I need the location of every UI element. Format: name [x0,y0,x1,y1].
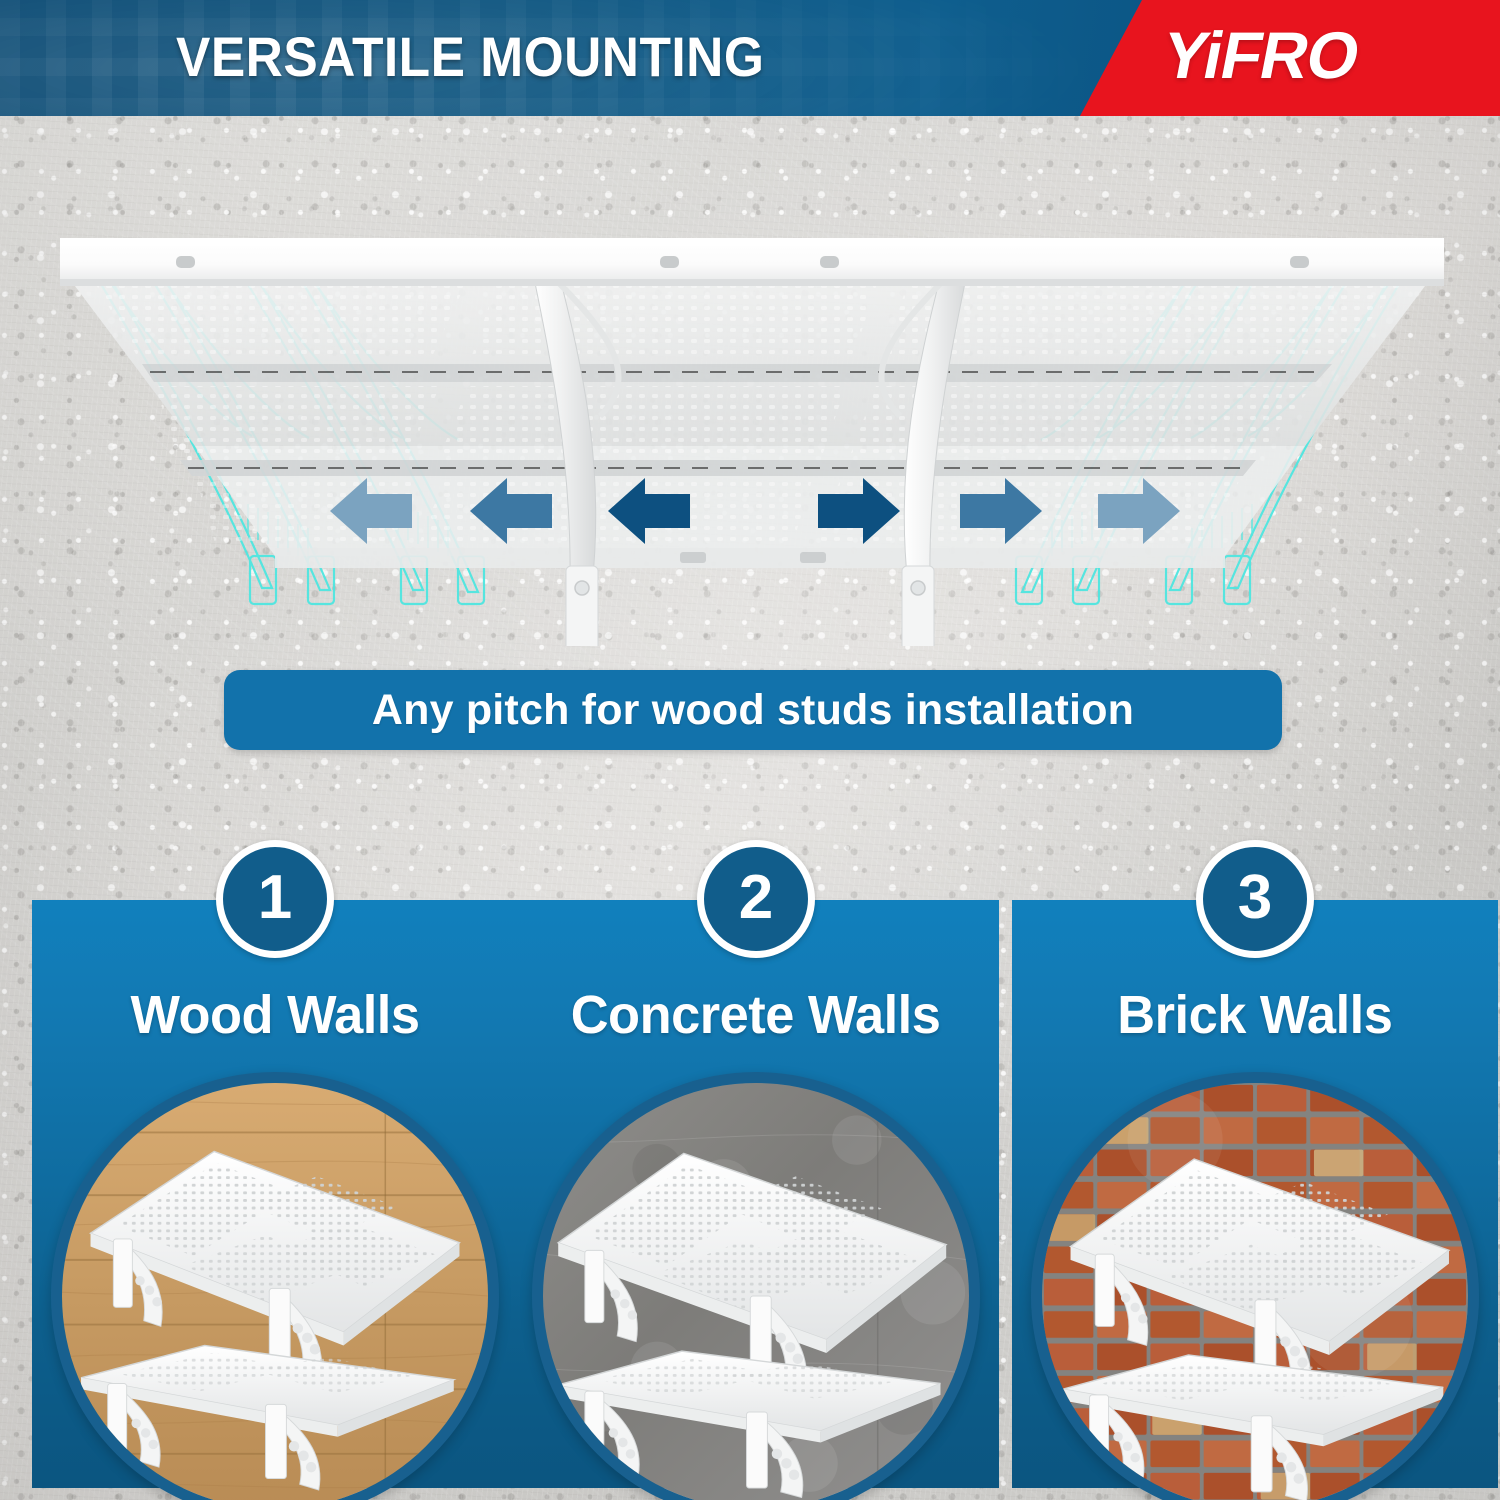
card-photo-ring [1031,1072,1479,1500]
card-title-text: Concrete Walls [571,984,941,1046]
card-number: 1 [258,867,292,929]
header-banner: VERSATILE MOUNTING YiFRO [0,0,1500,116]
hero-shelf-illustration [0,116,1500,646]
card-title: Wood Walls [32,984,518,1046]
card-title: Concrete Walls [513,984,999,1046]
page-title-text: VERSATILE MOUNTING [176,24,764,89]
infographic-page: VERSATILE MOUNTING YiFRO [0,0,1500,1500]
card-photo-ring [532,1072,980,1500]
card-wood-walls[interactable]: 1 Wood Walls [32,900,518,1488]
brand-logo-plate: YiFRO [1080,0,1500,116]
card-title-text: Wood Walls [130,984,419,1046]
concrete-wall-photo [543,1083,969,1500]
shelf-deck [60,266,1440,568]
card-brick-walls[interactable]: 3 Brick Walls [1012,900,1498,1488]
card-number: 3 [1238,867,1272,929]
card-number-badge: 1 [216,840,334,958]
card-number-badge: 2 [697,840,815,958]
card-title-text: Brick Walls [1117,984,1392,1046]
shelf-top-mounting-bar [60,238,1444,286]
card-number: 2 [739,867,773,929]
page-title: VERSATILE MOUNTING [176,24,816,89]
card-number-badge: 3 [1196,840,1314,958]
brick-wall-photo [1042,1083,1468,1500]
pitch-callout-banner: Any pitch for wood studs installation [224,670,1282,750]
wall-type-card-group: 1 Wood Walls [0,828,1500,1500]
card-concrete-walls[interactable]: 2 Concrete Walls [513,900,999,1488]
pitch-callout-text: Any pitch for wood studs installation [372,686,1134,735]
brand-logo-text: YiFRO [1157,17,1366,93]
card-title: Brick Walls [1012,984,1498,1046]
wood-wall-photo [62,1083,488,1500]
card-photo-ring [51,1072,499,1500]
